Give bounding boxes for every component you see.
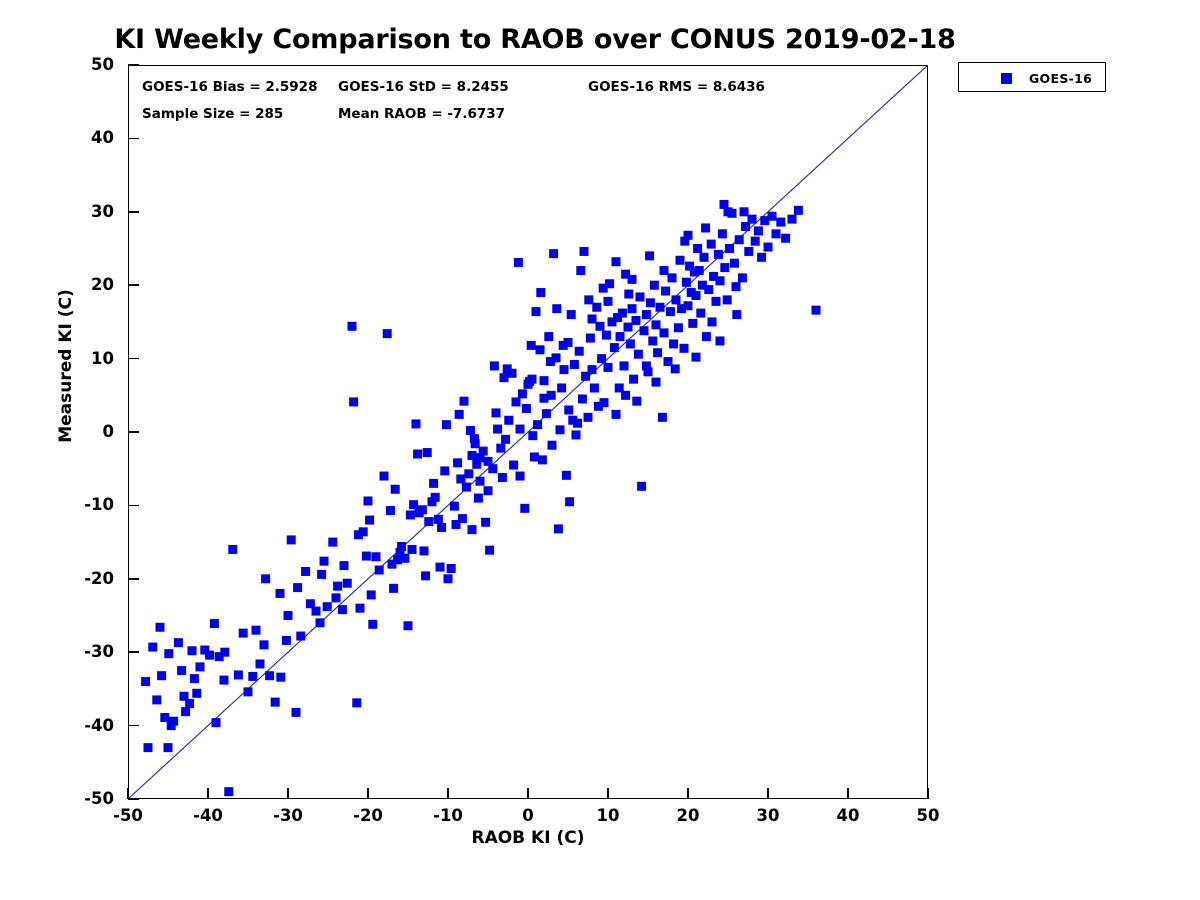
- data-point: [177, 666, 186, 675]
- data-point: [684, 301, 693, 310]
- y-tick-label: -50: [58, 791, 114, 808]
- data-point: [700, 253, 709, 262]
- data-point: [352, 698, 361, 707]
- data-point: [696, 309, 705, 318]
- data-point: [276, 589, 285, 598]
- data-point: [640, 326, 649, 335]
- data-point: [169, 717, 178, 726]
- data-point: [458, 514, 467, 523]
- data-point: [772, 229, 781, 238]
- data-point: [533, 420, 542, 429]
- x-tick-label: 20: [653, 808, 723, 825]
- data-point: [234, 670, 243, 679]
- data-point: [546, 357, 555, 366]
- data-point: [776, 218, 785, 227]
- data-point: [612, 257, 621, 266]
- data-point: [260, 640, 269, 649]
- data-point: [707, 240, 716, 249]
- data-point: [386, 506, 395, 515]
- data-point: [648, 336, 657, 345]
- data-point: [661, 287, 670, 296]
- data-point: [348, 322, 357, 331]
- data-point: [429, 479, 438, 488]
- data-point: [493, 425, 502, 434]
- data-point: [271, 698, 280, 707]
- data-point: [509, 461, 518, 470]
- data-point: [144, 743, 153, 752]
- data-point: [536, 345, 545, 354]
- data-point: [212, 718, 221, 727]
- data-point: [730, 259, 739, 268]
- data-point: [354, 530, 363, 539]
- x-tick-label: 10: [573, 808, 643, 825]
- data-point: [562, 471, 571, 480]
- data-point: [764, 243, 773, 252]
- data-point: [434, 515, 443, 524]
- data-point: [547, 391, 556, 400]
- data-point: [522, 404, 531, 413]
- data-point: [695, 266, 704, 275]
- data-point: [732, 282, 741, 291]
- y-tick-label: -30: [58, 644, 114, 661]
- data-point: [442, 420, 451, 429]
- data-point: [372, 552, 381, 561]
- y-tick-label: -20: [58, 571, 114, 588]
- data-point: [356, 604, 365, 613]
- data-point: [567, 310, 576, 319]
- x-axis-label: RAOB KI (C): [128, 828, 928, 848]
- data-point: [431, 493, 440, 502]
- data-point: [333, 582, 342, 591]
- data-points-group: [141, 200, 820, 796]
- data-point: [599, 284, 608, 293]
- data-point: [368, 620, 377, 629]
- x-tick-mark: [767, 788, 769, 799]
- data-point: [540, 376, 549, 385]
- y-tick-mark: [128, 725, 139, 727]
- data-point: [604, 363, 613, 372]
- data-point: [652, 320, 661, 329]
- data-point: [220, 648, 229, 657]
- stat-bias: GOES-16 Bias = 2.5928: [142, 79, 317, 95]
- data-point: [404, 621, 413, 630]
- y-tick-label: -10: [58, 497, 114, 514]
- x-tick-label: 50: [893, 808, 963, 825]
- data-point: [365, 516, 374, 525]
- data-point: [538, 455, 547, 464]
- data-point: [692, 291, 701, 300]
- data-point: [732, 310, 741, 319]
- data-point: [484, 486, 493, 495]
- data-point: [466, 426, 475, 435]
- data-point: [423, 448, 432, 457]
- data-point: [597, 354, 606, 363]
- data-point: [323, 602, 332, 611]
- data-point: [388, 560, 397, 569]
- data-point: [650, 281, 659, 290]
- x-tick-label: 40: [813, 808, 883, 825]
- data-point: [504, 416, 513, 425]
- y-tick-mark: [128, 505, 139, 507]
- data-point: [248, 672, 257, 681]
- data-point: [642, 310, 651, 319]
- stat-rms: GOES-16 RMS = 8.6436: [588, 79, 765, 95]
- data-point: [317, 570, 326, 579]
- data-point: [375, 565, 384, 574]
- data-point: [588, 365, 597, 374]
- data-point: [708, 317, 717, 326]
- data-point: [660, 328, 669, 337]
- data-point: [287, 535, 296, 544]
- data-point: [560, 365, 569, 374]
- data-point: [720, 200, 729, 209]
- data-point: [738, 273, 747, 282]
- data-point: [396, 548, 405, 557]
- y-tick-label: 0: [58, 424, 114, 441]
- data-point: [456, 474, 465, 483]
- data-point: [735, 235, 744, 244]
- data-point: [628, 275, 637, 284]
- data-point: [320, 557, 329, 566]
- data-point: [712, 297, 721, 306]
- data-point: [596, 322, 605, 331]
- stat-sample-size: Sample Size = 285: [142, 106, 283, 122]
- data-point: [556, 425, 565, 434]
- y-tick-label: -40: [58, 718, 114, 735]
- data-point: [156, 623, 165, 632]
- data-point: [174, 638, 183, 647]
- x-tick-mark: [527, 788, 529, 799]
- data-point: [573, 419, 582, 428]
- data-point: [682, 278, 691, 287]
- x-tick-mark: [207, 788, 209, 799]
- data-point: [671, 364, 680, 373]
- data-point: [484, 457, 493, 466]
- data-point: [503, 364, 512, 373]
- data-point: [424, 517, 433, 526]
- data-point: [658, 413, 667, 422]
- data-point: [570, 360, 579, 369]
- data-point: [444, 574, 453, 583]
- stat-mean-raob: Mean RAOB = -7.6737: [338, 106, 505, 122]
- data-point: [584, 295, 593, 304]
- data-point: [788, 215, 797, 224]
- data-point: [141, 677, 150, 686]
- data-point: [580, 247, 589, 256]
- data-point: [626, 339, 635, 348]
- data-point: [637, 482, 646, 491]
- x-tick-mark: [127, 788, 129, 799]
- data-point: [474, 494, 483, 503]
- data-point: [413, 450, 422, 459]
- data-point: [148, 643, 157, 652]
- data-point: [604, 297, 613, 306]
- data-point: [636, 292, 645, 301]
- legend: GOES-16: [958, 62, 1106, 92]
- data-point: [408, 545, 417, 554]
- data-point: [564, 405, 573, 414]
- data-point: [440, 466, 449, 475]
- data-point: [412, 419, 421, 428]
- data-point: [485, 546, 494, 555]
- data-point: [666, 307, 675, 316]
- data-point: [720, 263, 729, 272]
- x-tick-label: -30: [253, 808, 323, 825]
- data-point: [256, 659, 265, 668]
- data-point: [367, 590, 376, 599]
- data-point: [343, 579, 352, 588]
- data-point: [501, 435, 510, 444]
- data-point: [552, 304, 561, 313]
- y-tick-mark: [128, 358, 139, 360]
- data-point: [180, 692, 189, 701]
- x-tick-label: -40: [173, 808, 243, 825]
- y-tick-label: 20: [58, 277, 114, 294]
- data-point: [590, 383, 599, 392]
- y-tick-label: 30: [58, 204, 114, 221]
- data-point: [652, 378, 661, 387]
- chart-title: KI Weekly Comparison to RAOB over CONUS …: [0, 24, 1070, 55]
- data-point: [468, 451, 477, 460]
- data-point: [380, 472, 389, 481]
- data-point: [527, 341, 536, 350]
- data-point: [276, 673, 285, 682]
- data-point: [190, 674, 199, 683]
- data-point: [312, 607, 321, 616]
- data-point: [564, 338, 573, 347]
- data-point: [492, 408, 501, 417]
- data-point: [594, 402, 603, 411]
- x-tick-label: -20: [333, 808, 403, 825]
- data-point: [754, 226, 763, 235]
- y-tick-mark: [128, 64, 139, 66]
- data-point: [364, 497, 373, 506]
- x-tick-label: -50: [93, 808, 163, 825]
- data-point: [668, 273, 677, 282]
- data-point: [164, 649, 173, 658]
- x-tick-label: 0: [493, 808, 563, 825]
- data-point: [680, 344, 689, 353]
- data-point: [565, 497, 574, 506]
- data-point: [684, 231, 693, 240]
- data-point: [383, 329, 392, 338]
- data-point: [634, 350, 643, 359]
- data-point: [584, 413, 593, 422]
- data-point: [252, 626, 261, 635]
- data-point: [669, 339, 678, 348]
- data-point: [624, 323, 633, 332]
- data-point: [164, 743, 173, 752]
- data-point: [572, 430, 581, 439]
- data-point: [152, 695, 161, 704]
- x-tick-mark: [927, 788, 929, 799]
- data-point: [188, 646, 197, 655]
- data-point: [490, 361, 499, 370]
- data-point: [701, 223, 710, 232]
- data-point: [205, 651, 214, 660]
- data-point: [481, 518, 490, 527]
- data-point: [160, 713, 169, 722]
- data-point: [554, 524, 563, 533]
- data-point: [602, 331, 611, 340]
- data-point: [757, 253, 766, 262]
- data-point: [282, 636, 291, 645]
- x-tick-mark: [287, 788, 289, 799]
- data-point: [557, 383, 566, 392]
- y-tick-label: 50: [58, 57, 114, 74]
- data-point: [632, 397, 641, 406]
- data-point: [578, 394, 587, 403]
- data-point: [518, 389, 527, 398]
- data-point: [514, 258, 523, 267]
- data-point: [624, 290, 633, 299]
- data-point: [610, 343, 619, 352]
- data-point: [420, 546, 429, 555]
- data-point: [656, 303, 665, 312]
- data-point: [618, 309, 627, 318]
- data-point: [328, 538, 337, 547]
- data-point: [794, 206, 803, 215]
- data-point: [479, 447, 488, 456]
- data-point: [181, 707, 190, 716]
- data-point: [781, 234, 790, 243]
- y-tick-mark: [128, 211, 139, 213]
- data-point: [549, 249, 558, 258]
- data-point: [349, 397, 358, 406]
- data-point: [676, 256, 685, 265]
- x-tick-mark: [687, 788, 689, 799]
- data-point: [528, 375, 537, 384]
- legend-marker-goes16-icon: [1001, 73, 1012, 84]
- data-point: [196, 662, 205, 671]
- data-point: [437, 523, 446, 532]
- data-point: [812, 306, 821, 315]
- data-point: [516, 472, 525, 481]
- data-point: [612, 410, 621, 419]
- data-point: [512, 397, 521, 406]
- data-point: [284, 611, 293, 620]
- data-point: [692, 353, 701, 362]
- data-point: [532, 307, 541, 316]
- data-point: [220, 676, 229, 685]
- data-point: [224, 787, 233, 796]
- data-point: [406, 510, 415, 519]
- data-point: [496, 444, 505, 453]
- data-point: [645, 251, 654, 260]
- y-tick-mark: [128, 798, 139, 800]
- data-point: [516, 425, 525, 434]
- data-point: [409, 500, 418, 509]
- data-point: [740, 207, 749, 216]
- x-tick-label: -10: [413, 808, 483, 825]
- data-point: [157, 671, 166, 680]
- data-point: [261, 574, 270, 583]
- y-tick-label: 40: [58, 130, 114, 147]
- data-point: [228, 545, 237, 554]
- data-point: [588, 314, 597, 323]
- data-point: [642, 361, 651, 370]
- data-point: [548, 441, 557, 450]
- data-point: [725, 244, 734, 253]
- data-point: [714, 250, 723, 259]
- data-point: [723, 295, 732, 304]
- data-point: [192, 689, 201, 698]
- chart-figure: KI Weekly Comparison to RAOB over CONUS …: [0, 0, 1200, 900]
- data-point: [544, 332, 553, 341]
- data-point: [629, 375, 638, 384]
- data-point: [628, 304, 637, 313]
- x-tick-mark: [447, 788, 449, 799]
- data-point: [338, 605, 347, 614]
- data-point: [447, 564, 456, 573]
- data-point: [316, 618, 325, 627]
- data-point: [704, 285, 713, 294]
- data-point: [332, 593, 341, 602]
- y-tick-mark: [128, 138, 139, 140]
- data-point: [244, 687, 253, 696]
- data-point: [702, 332, 711, 341]
- data-point: [340, 561, 349, 570]
- data-point: [468, 525, 477, 534]
- x-tick-mark: [847, 788, 849, 799]
- data-point: [693, 244, 702, 253]
- y-tick-mark: [128, 431, 139, 433]
- data-point: [528, 431, 537, 440]
- y-tick-mark: [128, 651, 139, 653]
- data-point: [239, 629, 248, 638]
- legend-label-goes16: GOES-16: [1029, 71, 1092, 86]
- data-point: [586, 334, 595, 343]
- data-point: [210, 619, 219, 628]
- data-point: [421, 571, 430, 580]
- data-point: [265, 671, 274, 680]
- data-point: [389, 584, 398, 593]
- data-point: [616, 332, 625, 341]
- data-point: [716, 336, 725, 345]
- data-point: [362, 552, 371, 561]
- data-point: [530, 452, 539, 461]
- data-point: [536, 288, 545, 297]
- data-point: [674, 323, 683, 332]
- data-point: [450, 502, 459, 511]
- data-point: [455, 410, 464, 419]
- data-point: [464, 469, 473, 478]
- data-point: [751, 237, 760, 246]
- x-tick-mark: [367, 788, 369, 799]
- data-point: [476, 477, 485, 486]
- data-point: [498, 473, 507, 482]
- data-point: [592, 303, 601, 312]
- data-point: [575, 347, 584, 356]
- data-point: [471, 439, 480, 448]
- data-point: [460, 397, 469, 406]
- data-point: [748, 215, 757, 224]
- data-point: [718, 229, 727, 238]
- data-point: [576, 266, 585, 275]
- data-point: [418, 505, 427, 514]
- data-point: [436, 563, 445, 572]
- data-point: [462, 483, 471, 492]
- data-point: [293, 583, 302, 592]
- data-point: [520, 504, 529, 513]
- y-tick-mark: [128, 284, 139, 286]
- data-point: [646, 298, 655, 307]
- data-point: [632, 316, 641, 325]
- stat-std: GOES-16 StD = 8.2455: [338, 79, 509, 95]
- data-point: [621, 391, 630, 400]
- data-point: [688, 319, 697, 328]
- data-point: [672, 295, 681, 304]
